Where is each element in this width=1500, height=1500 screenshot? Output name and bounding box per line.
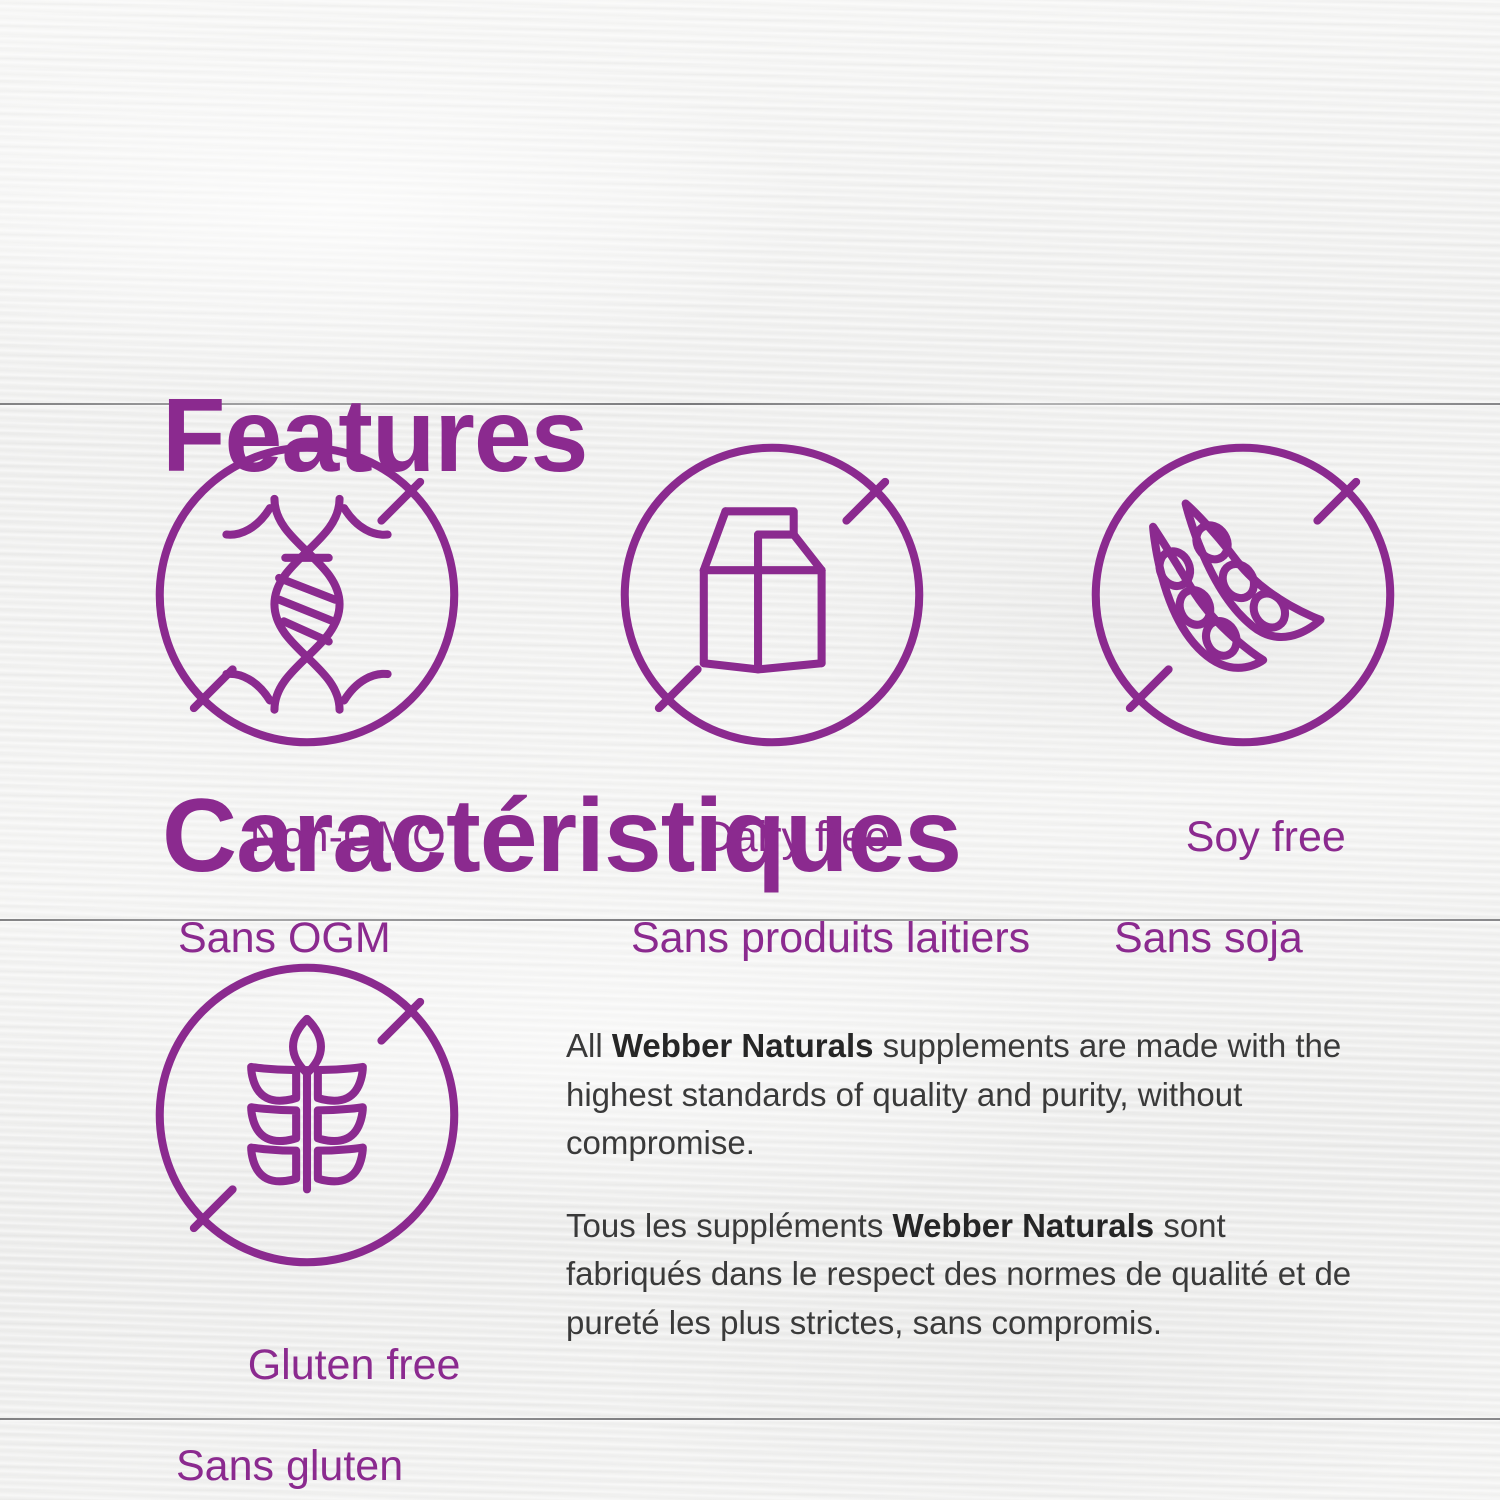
badge-label-en: Dairy free [703,813,889,861]
badge-label-en: Gluten free [248,1341,461,1389]
no-gmo-dna-icon [152,440,462,755]
description-en-before: All [566,1027,612,1064]
badge-label-en: Non-GMO [250,813,446,861]
feature-badge-soy-free: Soy free Sans soja [1088,440,1488,860]
badge-label-en: Soy free [1186,813,1346,861]
description-block: All Webber Naturals supplements are made… [566,1022,1366,1381]
feature-badge-non-gmo: Non-GMO Sans OGM [152,440,572,860]
badge-label-fr: Sans soja [1114,913,1346,963]
no-gluten-wheat-icon [152,960,462,1275]
no-dairy-milk-carton-icon [617,440,927,755]
no-soy-bean-pod-icon [1088,440,1398,755]
feature-badge-dairy-free: Dairy free Sans produits laitiers [617,440,1077,860]
badge-label-fr: Sans OGM [178,913,446,963]
badge-label-soy-free: Soy free Sans soja [1114,762,1346,1064]
badge-label-fr: Sans gluten [176,1441,460,1491]
description-paragraph-en: All Webber Naturals supplements are made… [566,1022,1366,1168]
badge-label-dairy-free: Dairy free Sans produits laitiers [631,762,1030,1064]
brand-name-en: Webber Naturals [612,1027,874,1064]
description-paragraph-fr: Tous les suppléments Webber Naturals son… [566,1202,1366,1348]
feature-infographic: Features Caractéristiques [0,0,1500,1500]
badge-label-fr: Sans produits laitiers [631,913,1030,963]
badge-label-gluten-free: Gluten free Sans gluten [176,1290,460,1500]
feature-badge-gluten-free: Gluten free Sans gluten [152,960,572,1390]
description-fr-before: Tous les suppléments [566,1207,893,1244]
brand-name-fr: Webber Naturals [893,1207,1155,1244]
